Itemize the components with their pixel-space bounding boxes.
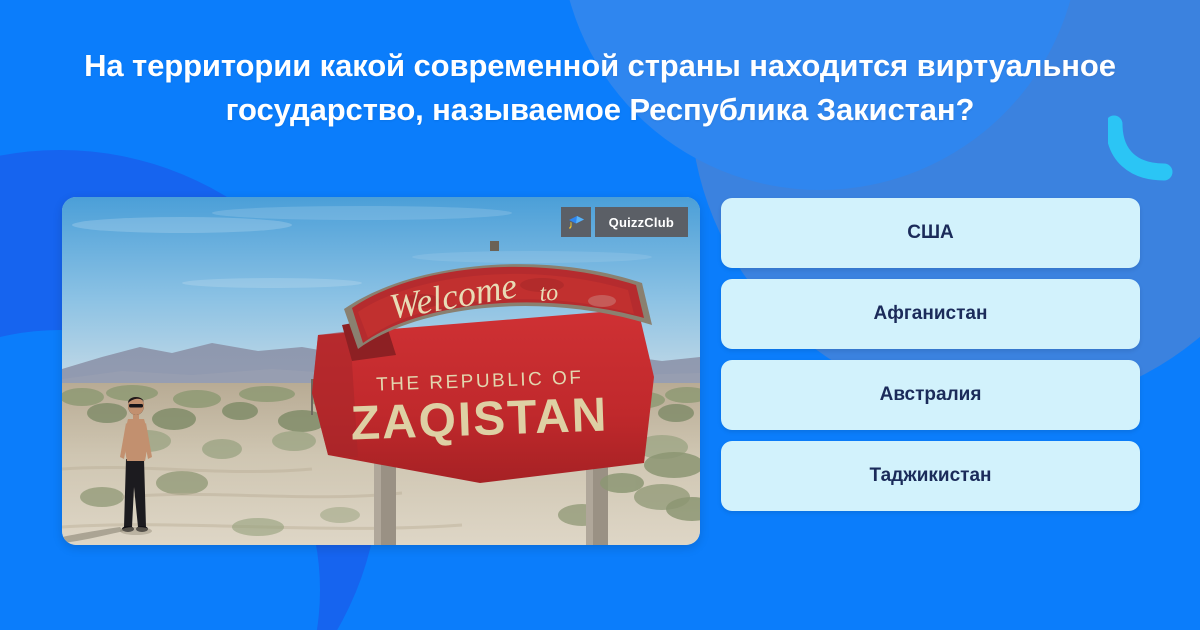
answer-option-2[interactable]: Афганистан	[721, 279, 1140, 349]
question-image: Welcome to THE REPUBLIC OF ZAQISTAN	[62, 197, 700, 545]
answer-options-list: США Афганистан Австралия Таджикистан	[721, 198, 1140, 522]
watermark-label: QuizzClub	[595, 207, 688, 237]
quiz-card: На территории какой современной страны н…	[0, 0, 1200, 630]
answer-option-2-label: Афганистан	[874, 303, 988, 325]
question-image-card: Welcome to THE REPUBLIC OF ZAQISTAN	[62, 197, 700, 545]
answer-option-1-label: США	[907, 222, 954, 244]
answer-option-3[interactable]: Австралия	[721, 360, 1140, 430]
watermark: QuizzClub	[561, 207, 688, 237]
graduation-cap-icon	[561, 207, 591, 237]
answer-option-1[interactable]: США	[721, 198, 1140, 268]
svg-text:to: to	[539, 280, 559, 307]
svg-text:ZAQISTAN: ZAQISTAN	[350, 389, 609, 451]
answer-option-4-label: Таджикистан	[869, 465, 991, 487]
answer-option-3-label: Австралия	[880, 384, 982, 406]
answer-option-4[interactable]: Таджикистан	[721, 441, 1140, 511]
question-text: На территории какой современной страны н…	[0, 44, 1200, 132]
